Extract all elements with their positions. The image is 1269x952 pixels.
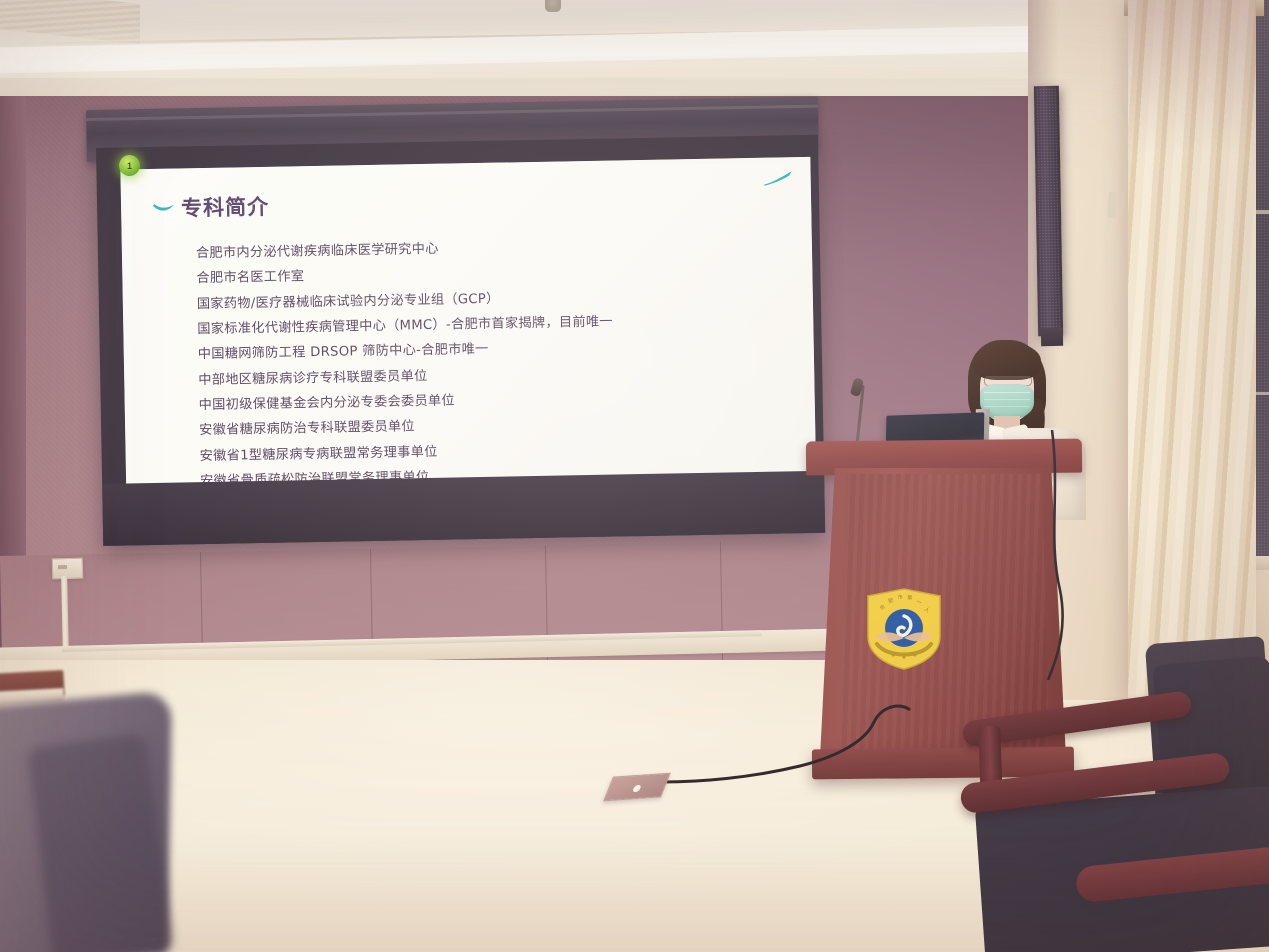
chair-right-front[interactable] [1076,856,1269,952]
indicator-label: 1 [127,161,132,171]
floor-outlet[interactable] [603,773,671,802]
slide-body: 合肥市内分泌代谢疾病临床医学研究中心 合肥市名医工作室 国家药物/医疗器械临床试… [196,230,787,485]
screen-bottom-bar [102,471,825,546]
hospital-shield-emblem-icon: 合 肥 市 第 一 人 [865,588,943,670]
slide-title-row: 专科简介 [153,187,781,220]
slide-corner-swoosh-icon [763,171,793,186]
microphone-cable [1030,430,1110,680]
ceiling-vent [0,0,140,44]
screen-power-indicator-icon: 1 [119,155,140,176]
presenter-hair-front [973,342,1041,380]
svg-text:市: 市 [897,593,903,601]
wall-outlet[interactable] [52,558,84,580]
wall-speaker [1034,86,1063,336]
slide-title: 专科简介 [181,197,269,220]
projection-screen: 专科简介 合肥市内分泌代谢疾病临床医学研究中心 合肥市名医工作室 国家药物/医疗… [96,135,825,546]
slide-title-swoosh-icon [153,204,174,215]
sprinkler-head-icon [545,0,561,12]
presentation-slide: 专科简介 合肥市内分泌代谢疾病临床医学研究中心 合肥市名医工作室 国家药物/医疗… [120,157,816,486]
svg-text:第: 第 [907,594,913,601]
conference-room-photo: 1 专科简介 合肥市内分泌代谢疾病临床医学研究中心 合肥市名医工作室 国家药物/… [0,0,1269,952]
window-curtain [1128,0,1256,700]
curtain-hook [1107,192,1118,219]
projection-screen-surface: 专科简介 合肥市内分泌代谢疾病临床医学研究中心 合肥市名医工作室 国家药物/医疗… [120,157,816,486]
